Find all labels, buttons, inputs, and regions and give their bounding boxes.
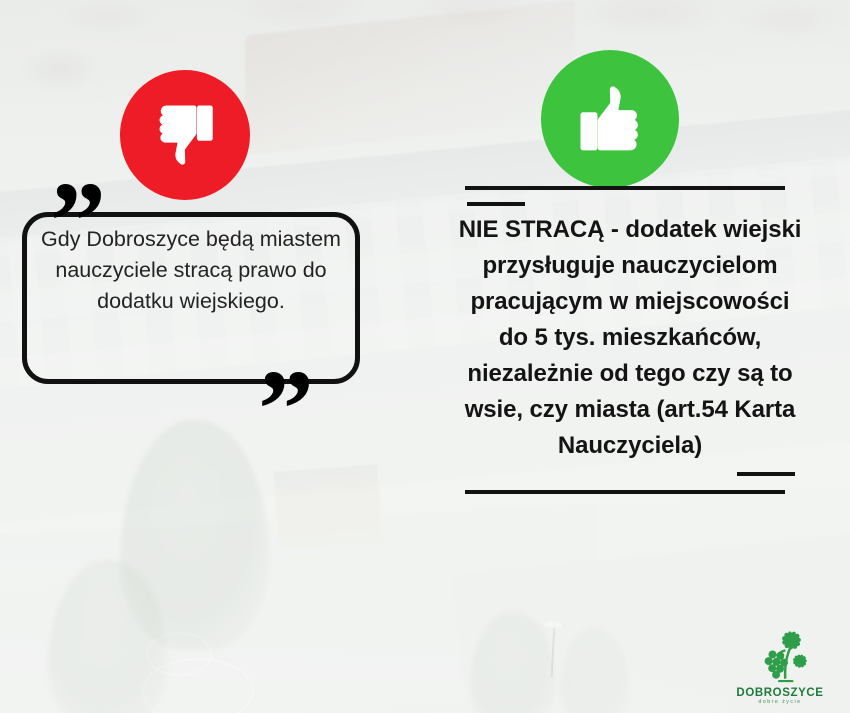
quote-close-icon: ” (258, 354, 314, 466)
divider-bottom (455, 468, 805, 502)
divider-long-line (465, 186, 785, 190)
thumbs-up-icon (541, 50, 679, 188)
positive-answer-text: NIE STRACĄ - dodatek wiejski przysługuje… (455, 212, 805, 464)
thumbs-down-icon (120, 70, 250, 200)
grapevine-icon (749, 629, 811, 685)
poster: ” Gdy Dobroszyce będą miastem nauczyciel… (0, 0, 850, 713)
logo-name: DOBROSZYCE (728, 687, 832, 699)
divider-top (455, 178, 805, 212)
divider-short-line (467, 202, 525, 206)
divider-short-line (737, 472, 795, 476)
logo: DOBROSZYCE dobre życie (728, 629, 832, 705)
positive-answer-block: NIE STRACĄ - dodatek wiejski przysługuje… (455, 178, 805, 502)
negative-quote-text: Gdy Dobroszyce będą miastem nauczyciele … (26, 224, 356, 317)
logo-tagline: dobre życie (728, 699, 832, 705)
divider-long-line (465, 490, 785, 494)
